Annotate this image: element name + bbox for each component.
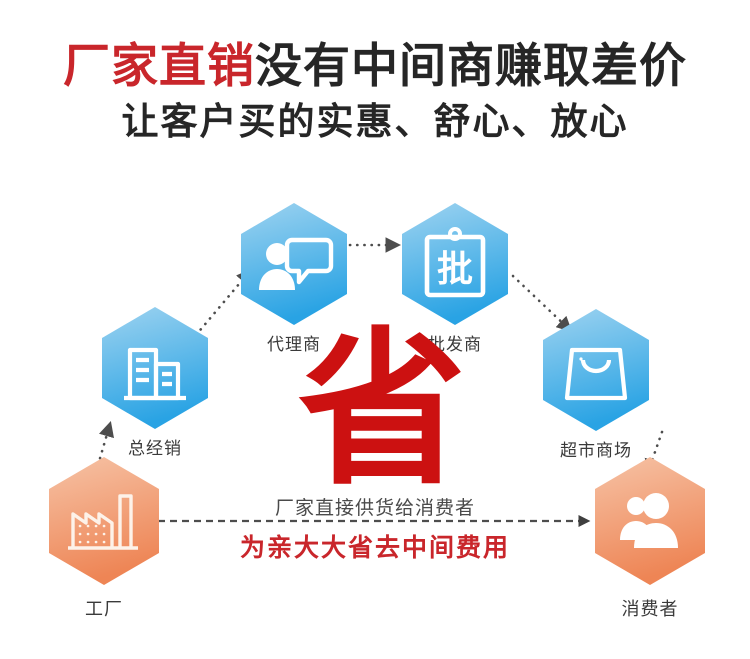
factory-label: 工厂 — [14, 595, 194, 621]
supply-chain-diagram: 总经销 代理商 — [0, 0, 750, 659]
svg-text:批: 批 — [437, 248, 473, 289]
dealer-hexagon — [100, 306, 210, 430]
promo-banner: 厂家直销没有中间商赚取差价 让客户买的实惠、舒心、放心 — [0, 0, 750, 659]
savings-caption: 为亲大大省去中间费用 — [0, 528, 750, 564]
agent-hexagon — [239, 202, 349, 326]
savings-watermark-char: 省 — [298, 318, 466, 493]
wholesaler-hexagon: 批 — [400, 202, 510, 326]
consumer-label: 消费者 — [560, 595, 740, 621]
direct-supply-caption: 厂家直接供货给消费者 — [0, 493, 750, 520]
savings-watermark: 省 — [292, 318, 472, 493]
supermarket-hexagon — [541, 308, 651, 432]
factory-hexagon — [47, 456, 161, 586]
consumer-hexagon — [593, 456, 707, 586]
